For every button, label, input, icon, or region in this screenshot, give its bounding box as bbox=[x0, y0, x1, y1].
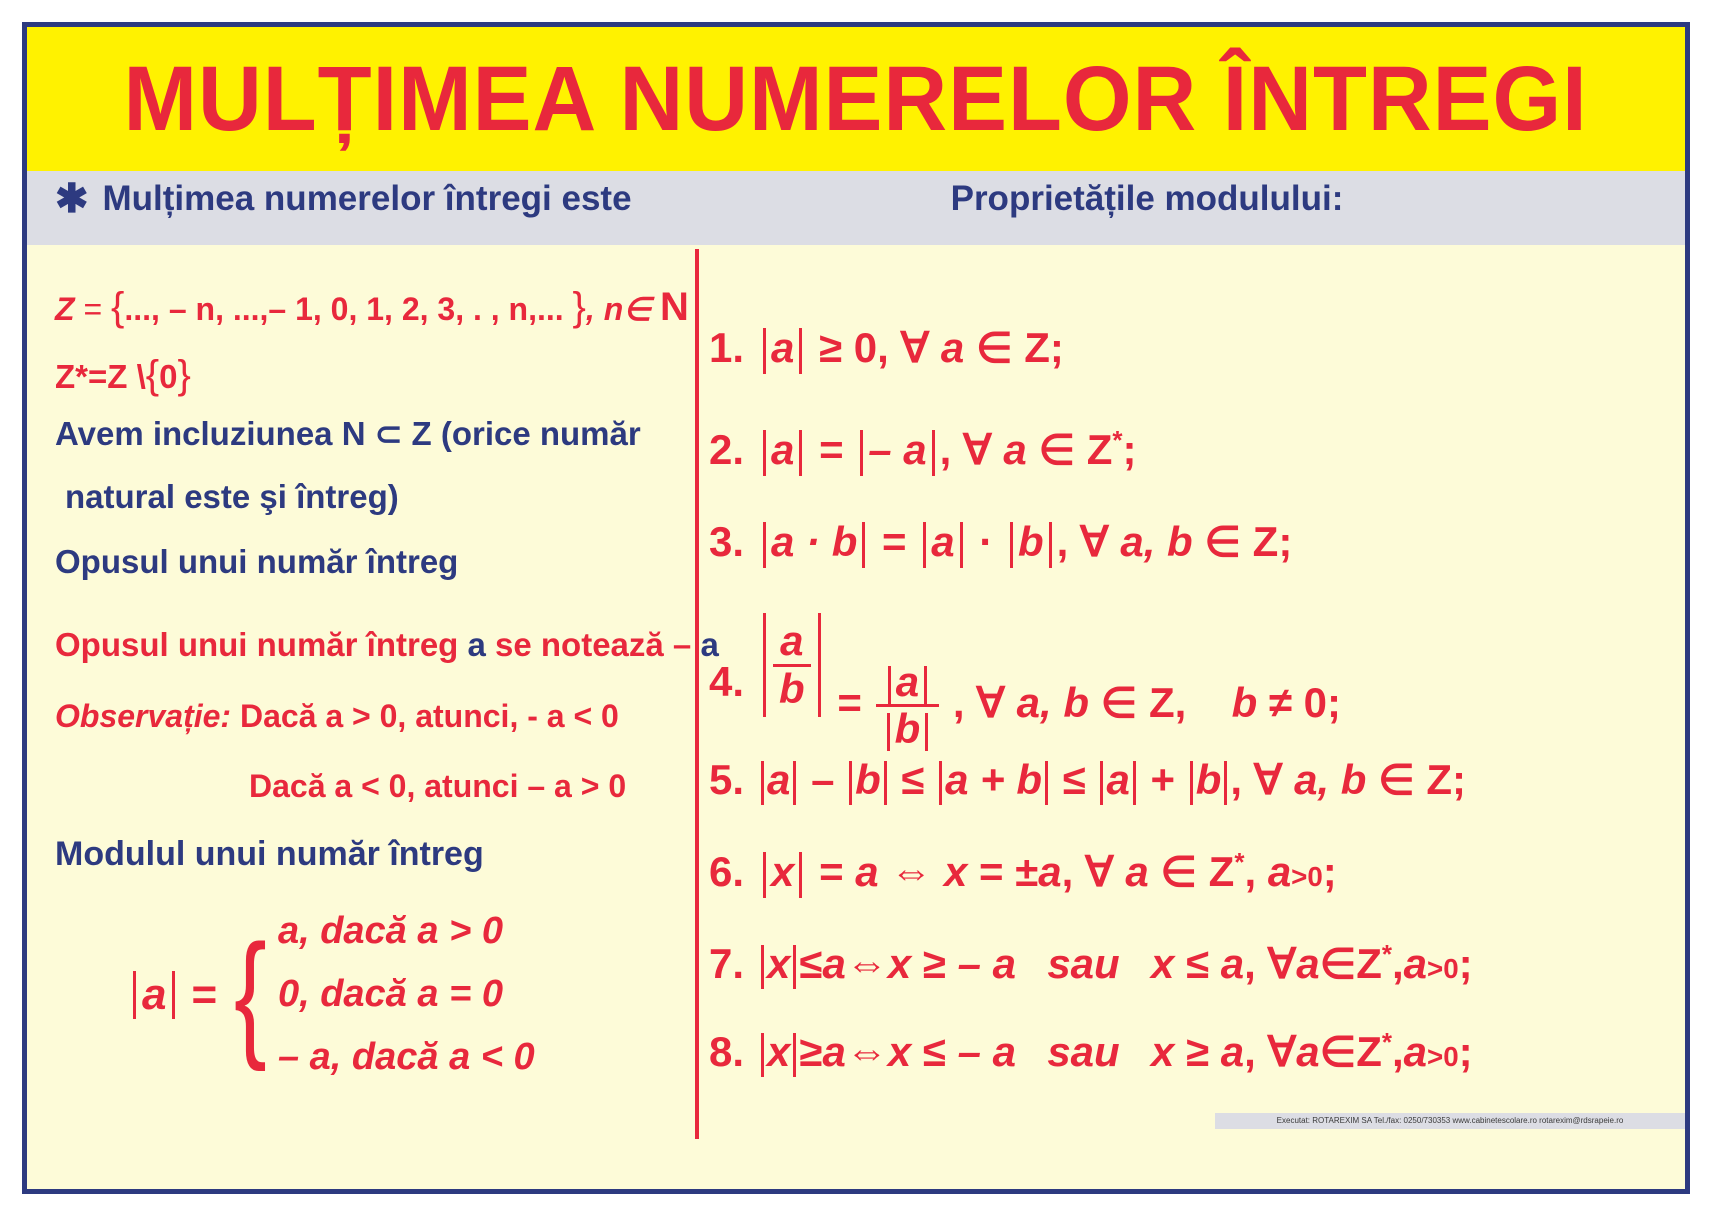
abs-bar-icon bbox=[887, 713, 890, 751]
property-5: 5. a – b ≤ a + b ≤ a + b, ∀ a, b ∈ bbox=[709, 755, 1466, 805]
property-6: 6. x = a ⇔ x = ±a, ∀ a ∈ Z*, a>0; bbox=[709, 847, 1337, 898]
forall-icon: ∀ bbox=[1085, 848, 1114, 895]
p6-x-2: x bbox=[944, 848, 967, 895]
p7-ge: ≥ bbox=[923, 940, 946, 987]
left-section-heading: ✱ Mulțimea numerelor întregi este bbox=[55, 179, 632, 219]
element-of-icon: ∈ bbox=[1204, 518, 1241, 565]
p7-le-1: ≤ bbox=[799, 940, 822, 987]
property-1-number: 1. bbox=[709, 324, 744, 372]
publisher-credit: Executat: ROTAREXIM SA Tel./fax: 0250/73… bbox=[1215, 1113, 1685, 1129]
p1-rel: ≥ bbox=[819, 324, 842, 371]
p7-star: * bbox=[1382, 939, 1392, 969]
inclusion-line-2: natural este şi întreg) bbox=[65, 480, 399, 513]
p6-end: ; bbox=[1323, 848, 1337, 895]
p2-set: Z bbox=[1087, 426, 1113, 473]
abs-bar-icon bbox=[860, 430, 863, 476]
element-of-icon: ∈ bbox=[1320, 1028, 1357, 1075]
p8-minus-a: – a bbox=[958, 1028, 1016, 1075]
p7-abs-x: x bbox=[767, 940, 790, 987]
abs-bar-icon bbox=[799, 852, 802, 898]
p6-eq-1: = bbox=[819, 848, 844, 895]
p5-le-2: ≤ bbox=[1063, 756, 1086, 803]
set-close-brace: } bbox=[573, 285, 586, 329]
p5-le-1: ≤ bbox=[901, 756, 924, 803]
p4-numerator-2-wrap: a bbox=[877, 660, 938, 704]
p7-comma-2: , bbox=[1392, 940, 1404, 987]
abs-bar-icon bbox=[1133, 761, 1136, 805]
p3-dot: · bbox=[979, 518, 993, 565]
modulus-eq: = bbox=[191, 970, 217, 1020]
abs-bar-icon bbox=[763, 613, 766, 717]
abs-bar-icon bbox=[793, 945, 796, 989]
p2-comma: , bbox=[940, 426, 952, 473]
right-column: 1. a ≥ 0, ∀ a ∈ Z; 2. a bbox=[699, 245, 1690, 1189]
p4-rel: = bbox=[837, 679, 862, 726]
z-star-lhs: Z* bbox=[55, 358, 88, 395]
asterisk-icon: ✱ bbox=[55, 179, 89, 219]
section-header-band: ✱ Mulțimea numerelor întregi este Propri… bbox=[27, 171, 1685, 245]
p4-set: Z bbox=[1149, 679, 1175, 726]
abs-bar-icon bbox=[818, 613, 821, 717]
title-band: MULȚIMEA NUMERELOR ÎNTREGI bbox=[27, 27, 1685, 171]
p6-a-2: a bbox=[1038, 848, 1061, 895]
opposite-text-part2: se notează – bbox=[486, 626, 701, 663]
p6-abs-x: x bbox=[771, 848, 794, 895]
p6-a-1: a bbox=[855, 848, 878, 895]
left-section-heading-label: Mulțimea numerelor întregi este bbox=[103, 179, 632, 219]
p7-a-2: a bbox=[1221, 940, 1244, 987]
abs-bar-icon bbox=[793, 761, 796, 805]
p6-eq-2: = bbox=[979, 848, 1004, 895]
p6-star: * bbox=[1234, 847, 1244, 877]
p4-denominator-2-wrap: b bbox=[876, 707, 940, 751]
p4-fraction-right: a b bbox=[876, 660, 940, 751]
p8-comma: , bbox=[1244, 1028, 1256, 1075]
p5-abs-a: a bbox=[767, 756, 790, 803]
p2-rel: = bbox=[819, 426, 844, 473]
forall-icon: ∀ bbox=[1254, 756, 1283, 803]
not-equal-icon: ≠ bbox=[1269, 679, 1292, 726]
p8-star: * bbox=[1382, 1027, 1392, 1057]
forall-icon: ∀ bbox=[1268, 1028, 1297, 1075]
element-of-icon: ∈ bbox=[1378, 756, 1415, 803]
p7-x-2: x bbox=[888, 940, 911, 987]
abs-bar-icon bbox=[763, 852, 766, 898]
iff-icon: ⇔ bbox=[846, 1028, 888, 1075]
element-of-icon: ∈ bbox=[1320, 940, 1357, 987]
p3-end: ; bbox=[1278, 518, 1292, 565]
page-title: MULȚIMEA NUMERELOR ÎNTREGI bbox=[124, 53, 1588, 145]
p2-end: ; bbox=[1123, 426, 1137, 473]
forall-icon: ∀ bbox=[1268, 940, 1297, 987]
p8-le: ≤ bbox=[923, 1028, 946, 1075]
observation-text-1: Dacă a > 0, atunci, - a < 0 bbox=[231, 698, 619, 734]
opposite-text-part1: Opusul unui număr întreg bbox=[55, 626, 468, 663]
p1-abs-a: a bbox=[771, 324, 794, 371]
p5-abs-b2: b bbox=[1196, 756, 1222, 803]
p5-comma: , bbox=[1230, 756, 1242, 803]
p2-var: a bbox=[1003, 426, 1026, 473]
p4-denominator-2: b bbox=[895, 705, 921, 752]
abs-bar-icon bbox=[932, 430, 935, 476]
element-of-icon: ∈ bbox=[1160, 848, 1197, 895]
p8-cond: a bbox=[1404, 1028, 1427, 1075]
modulus-abs-a: a bbox=[127, 970, 181, 1020]
abs-bar-icon bbox=[862, 522, 865, 568]
property-4-number: 4. bbox=[709, 658, 744, 706]
property-7-number: 7. bbox=[709, 940, 744, 988]
p4-comma-2: , bbox=[1175, 679, 1187, 726]
abs-bar-icon bbox=[1049, 522, 1052, 568]
z-star-close-brace: } bbox=[178, 353, 191, 397]
abs-bar-icon bbox=[849, 761, 852, 805]
property-3-number: 3. bbox=[709, 518, 744, 566]
property-8-number: 8. bbox=[709, 1028, 744, 1076]
p1-var: a bbox=[941, 324, 964, 371]
p8-set: Z bbox=[1356, 1028, 1382, 1075]
abs-bar-icon bbox=[799, 328, 802, 374]
observation-line-1: Observație: Dacă a > 0, atunci, - a < 0 bbox=[55, 700, 619, 732]
abs-bar-icon bbox=[1224, 761, 1227, 805]
abs-bar-icon bbox=[923, 522, 926, 568]
set-definition-lhs: Z bbox=[55, 291, 75, 327]
property-3-expression: a · b = a · b, ∀ a, b ∈ Z; bbox=[758, 517, 1292, 568]
p7-comma: , bbox=[1244, 940, 1256, 987]
set-definition-formula: Z = {..., – n, ...,– 1, 0, 1, 2, 3, . , … bbox=[55, 287, 689, 327]
abs-bar-icon bbox=[799, 430, 802, 476]
p5-plus: + bbox=[1150, 756, 1175, 803]
abs-bar-icon bbox=[1010, 522, 1013, 568]
p6-var: a bbox=[1125, 848, 1148, 895]
property-1: 1. a ≥ 0, ∀ a ∈ Z; bbox=[709, 323, 1064, 374]
p5-end: ; bbox=[1452, 756, 1466, 803]
forall-icon: ∀ bbox=[976, 679, 1005, 726]
heading-modulus: Modulul unui număr întreg bbox=[55, 837, 484, 871]
p8-gt: > bbox=[1427, 1041, 1443, 1072]
p8-zero: 0 bbox=[1443, 1041, 1458, 1072]
p8-a-2: a bbox=[1221, 1028, 1244, 1075]
abs-bar-icon bbox=[1100, 761, 1103, 805]
abs-bar-icon bbox=[763, 430, 766, 476]
property-3: 3. a · b = a · b, ∀ a, b ∈ Z; bbox=[709, 517, 1292, 568]
p7-zero: 0 bbox=[1443, 953, 1458, 984]
modulus-case-zero: 0, dacă a = 0 bbox=[278, 973, 535, 1016]
p6-cond: a bbox=[1268, 848, 1291, 895]
p8-ge-2: ≥ bbox=[1186, 1028, 1209, 1075]
right-section-heading: Proprietățile modulului: bbox=[787, 179, 1507, 219]
element-of-icon: ∈ bbox=[1038, 426, 1075, 473]
element-of-icon: ∈ bbox=[1101, 679, 1138, 726]
property-8: 8. x≥a⇔x ≤ – a sau x ≥ a, ∀a∈Z*,a>0; bbox=[709, 1027, 1473, 1077]
set-definition-eq: = bbox=[83, 291, 102, 327]
p3-abs-ab: a · b bbox=[771, 518, 857, 565]
z-star-formula: Z*=Z \{0} bbox=[55, 355, 191, 395]
abs-bar-icon bbox=[924, 666, 927, 704]
set-tail: , n∈ bbox=[586, 291, 651, 327]
property-2-number: 2. bbox=[709, 426, 744, 474]
z-star-eq: = bbox=[88, 358, 107, 395]
property-2: 2. a = – a, ∀ a ∈ Z*; bbox=[709, 425, 1137, 476]
p6-comma: , bbox=[1062, 848, 1074, 895]
p8-abs-x: x bbox=[767, 1028, 790, 1075]
p7-sau: sau bbox=[1047, 940, 1119, 987]
p7-x-3: x bbox=[1151, 940, 1174, 987]
p7-set: Z bbox=[1356, 940, 1382, 987]
left-column: Z = {..., – n, ...,– 1, 0, 1, 2, 3, . , … bbox=[27, 245, 695, 1189]
p8-comma-2: , bbox=[1392, 1028, 1404, 1075]
property-7-expression: x≤a⇔x ≥ – a sau x ≤ a, ∀a∈Z*,a>0; bbox=[758, 939, 1473, 989]
p6-gt: > bbox=[1291, 861, 1307, 892]
p8-ge-1: ≥ bbox=[799, 1028, 822, 1075]
property-8-expression: x≥a⇔x ≤ – a sau x ≥ a, ∀a∈Z*,a>0; bbox=[758, 1027, 1473, 1077]
p8-a-1: a bbox=[822, 1028, 845, 1075]
modulus-cases: a, dacă a > 0 0, dacă a = 0 – a, dacă a … bbox=[278, 910, 535, 1079]
property-5-expression: a – b ≤ a + b ≤ a + b, ∀ a, b ∈ Z; bbox=[758, 755, 1466, 805]
p1-value: 0 bbox=[854, 324, 877, 371]
heading-opposite: Opusul unui număr întreg bbox=[55, 545, 458, 578]
p7-minus-a: – a bbox=[958, 940, 1016, 987]
abs-bar-icon bbox=[960, 522, 963, 568]
modulus-definition: a = { a, dacă a > 0 0, dacă a = 0 – a, d… bbox=[127, 910, 535, 1079]
abs-bar-icon bbox=[793, 1033, 796, 1077]
set-open-brace: { bbox=[111, 285, 124, 329]
p3-comma: , bbox=[1057, 518, 1069, 565]
poster-frame: MULȚIMEA NUMERELOR ÎNTREGI ✱ Mulțimea nu… bbox=[22, 22, 1690, 1194]
p3-abs-b: b bbox=[1018, 518, 1044, 565]
observation-line-2: Dacă a < 0, atunci – a > 0 bbox=[249, 770, 626, 802]
iff-icon: ⇔ bbox=[890, 848, 932, 895]
poster-root: MULȚIMEA NUMERELOR ÎNTREGI ✱ Mulțimea nu… bbox=[0, 0, 1712, 1216]
observation-label: Observație: bbox=[55, 698, 231, 734]
p8-var: a bbox=[1296, 1028, 1319, 1075]
p2-star: * bbox=[1112, 425, 1122, 455]
p8-x-3: x bbox=[1151, 1028, 1174, 1075]
abs-bar-icon bbox=[761, 945, 764, 989]
property-2-expression: a = – a, ∀ a ∈ Z*; bbox=[758, 425, 1136, 476]
p4-end: ; bbox=[1327, 679, 1341, 726]
p7-cond: a bbox=[1404, 940, 1427, 987]
p5-vars: a, b bbox=[1294, 756, 1366, 803]
p1-set: Z bbox=[1024, 324, 1050, 371]
abs-bar-icon bbox=[884, 761, 887, 805]
p5-abs-b: b bbox=[855, 756, 881, 803]
p4-fraction-left: a b bbox=[773, 619, 811, 710]
p7-gt: > bbox=[1427, 953, 1443, 984]
property-6-number: 6. bbox=[709, 848, 744, 896]
modulus-case-positive: a, dacă a > 0 bbox=[278, 910, 535, 953]
p2-abs-minus-a: – a bbox=[868, 426, 926, 473]
p3-set: Z bbox=[1253, 518, 1279, 565]
property-4: 4. a b = a bbox=[709, 613, 1341, 752]
opposite-var-a: a bbox=[468, 626, 486, 663]
abs-bar-icon bbox=[888, 666, 891, 704]
p4-abs-fraction-1: a b bbox=[758, 613, 826, 717]
abs-bar-icon bbox=[939, 761, 942, 805]
property-6-expression: x = a ⇔ x = ±a, ∀ a ∈ Z*, a>0; bbox=[758, 847, 1337, 898]
modulus-lhs: a = bbox=[127, 970, 225, 1020]
opposite-notation-line: Opusul unui număr întreg a se notează – … bbox=[55, 628, 719, 661]
p5-abs-apb: a + b bbox=[945, 756, 1042, 803]
element-of-icon: ∈ bbox=[976, 324, 1013, 371]
abs-bar-icon bbox=[763, 522, 766, 568]
p1-comma: , bbox=[877, 324, 889, 371]
z-star-zero: 0 bbox=[159, 358, 177, 395]
p4-zero: 0 bbox=[1304, 679, 1327, 726]
p4-vars: a, b bbox=[1017, 679, 1089, 726]
p8-x-2: x bbox=[888, 1028, 911, 1075]
property-1-expression: a ≥ 0, ∀ a ∈ Z; bbox=[758, 323, 1064, 374]
modulus-case-negative: – a, dacă a < 0 bbox=[278, 1036, 535, 1079]
p3-abs-a: a bbox=[931, 518, 954, 565]
p5-abs-a2: a bbox=[1106, 756, 1129, 803]
piecewise-brace-icon: { bbox=[234, 937, 267, 1052]
forall-icon: ∀ bbox=[901, 324, 930, 371]
abs-bar-icon bbox=[1045, 761, 1048, 805]
forall-icon: ∀ bbox=[963, 426, 992, 473]
z-star-rhs: Z \ bbox=[107, 358, 146, 395]
p4-numerator-1: a bbox=[774, 619, 809, 663]
p1-end: ; bbox=[1050, 324, 1064, 371]
abs-bar-icon bbox=[761, 761, 764, 805]
p7-var: a bbox=[1296, 940, 1319, 987]
z-star-open-brace: { bbox=[146, 353, 159, 397]
p8-end: ; bbox=[1459, 1028, 1473, 1075]
property-4-expression: a b = a b , ∀ bbox=[758, 613, 1341, 752]
abs-bar-icon bbox=[761, 1033, 764, 1077]
iff-icon: ⇔ bbox=[846, 940, 888, 987]
plus-minus-icon: ± bbox=[1015, 848, 1038, 895]
abs-bar-icon bbox=[763, 328, 766, 374]
p4-cond-var: b bbox=[1232, 679, 1258, 726]
p8-sau: sau bbox=[1047, 1028, 1119, 1075]
p6-zero: 0 bbox=[1307, 861, 1322, 892]
p7-a-1: a bbox=[822, 940, 845, 987]
p4-comma: , bbox=[953, 679, 965, 726]
property-5-number: 5. bbox=[709, 756, 744, 804]
abs-bar-icon bbox=[1190, 761, 1193, 805]
p7-le-2: ≤ bbox=[1186, 940, 1209, 987]
property-7: 7. x≤a⇔x ≥ – a sau x ≤ a, ∀a∈Z*,a>0; bbox=[709, 939, 1473, 989]
inclusion-line-1: Avem incluziunea N ⊂ Z (orice număr bbox=[55, 417, 641, 450]
p3-rel: = bbox=[882, 518, 907, 565]
p5-minus: – bbox=[811, 756, 834, 803]
p4-numerator-2: a bbox=[896, 658, 919, 705]
p3-vars: a, b bbox=[1120, 518, 1192, 565]
forall-icon: ∀ bbox=[1080, 518, 1109, 565]
p7-end: ; bbox=[1459, 940, 1473, 987]
body-area: Z = {..., – n, ...,– 1, 0, 1, 2, 3, . , … bbox=[27, 245, 1685, 1189]
abs-bar-icon bbox=[925, 713, 928, 751]
set-elements: ..., – n, ...,– 1, 0, 1, 2, 3, . , n,... bbox=[124, 291, 572, 327]
p2-abs-a: a bbox=[771, 426, 794, 473]
p6-set: Z bbox=[1209, 848, 1235, 895]
p5-set: Z bbox=[1426, 756, 1452, 803]
p6-comma-2: , bbox=[1244, 848, 1256, 895]
p4-denominator-1: b bbox=[773, 667, 811, 711]
natural-set-symbol: N bbox=[660, 285, 689, 329]
